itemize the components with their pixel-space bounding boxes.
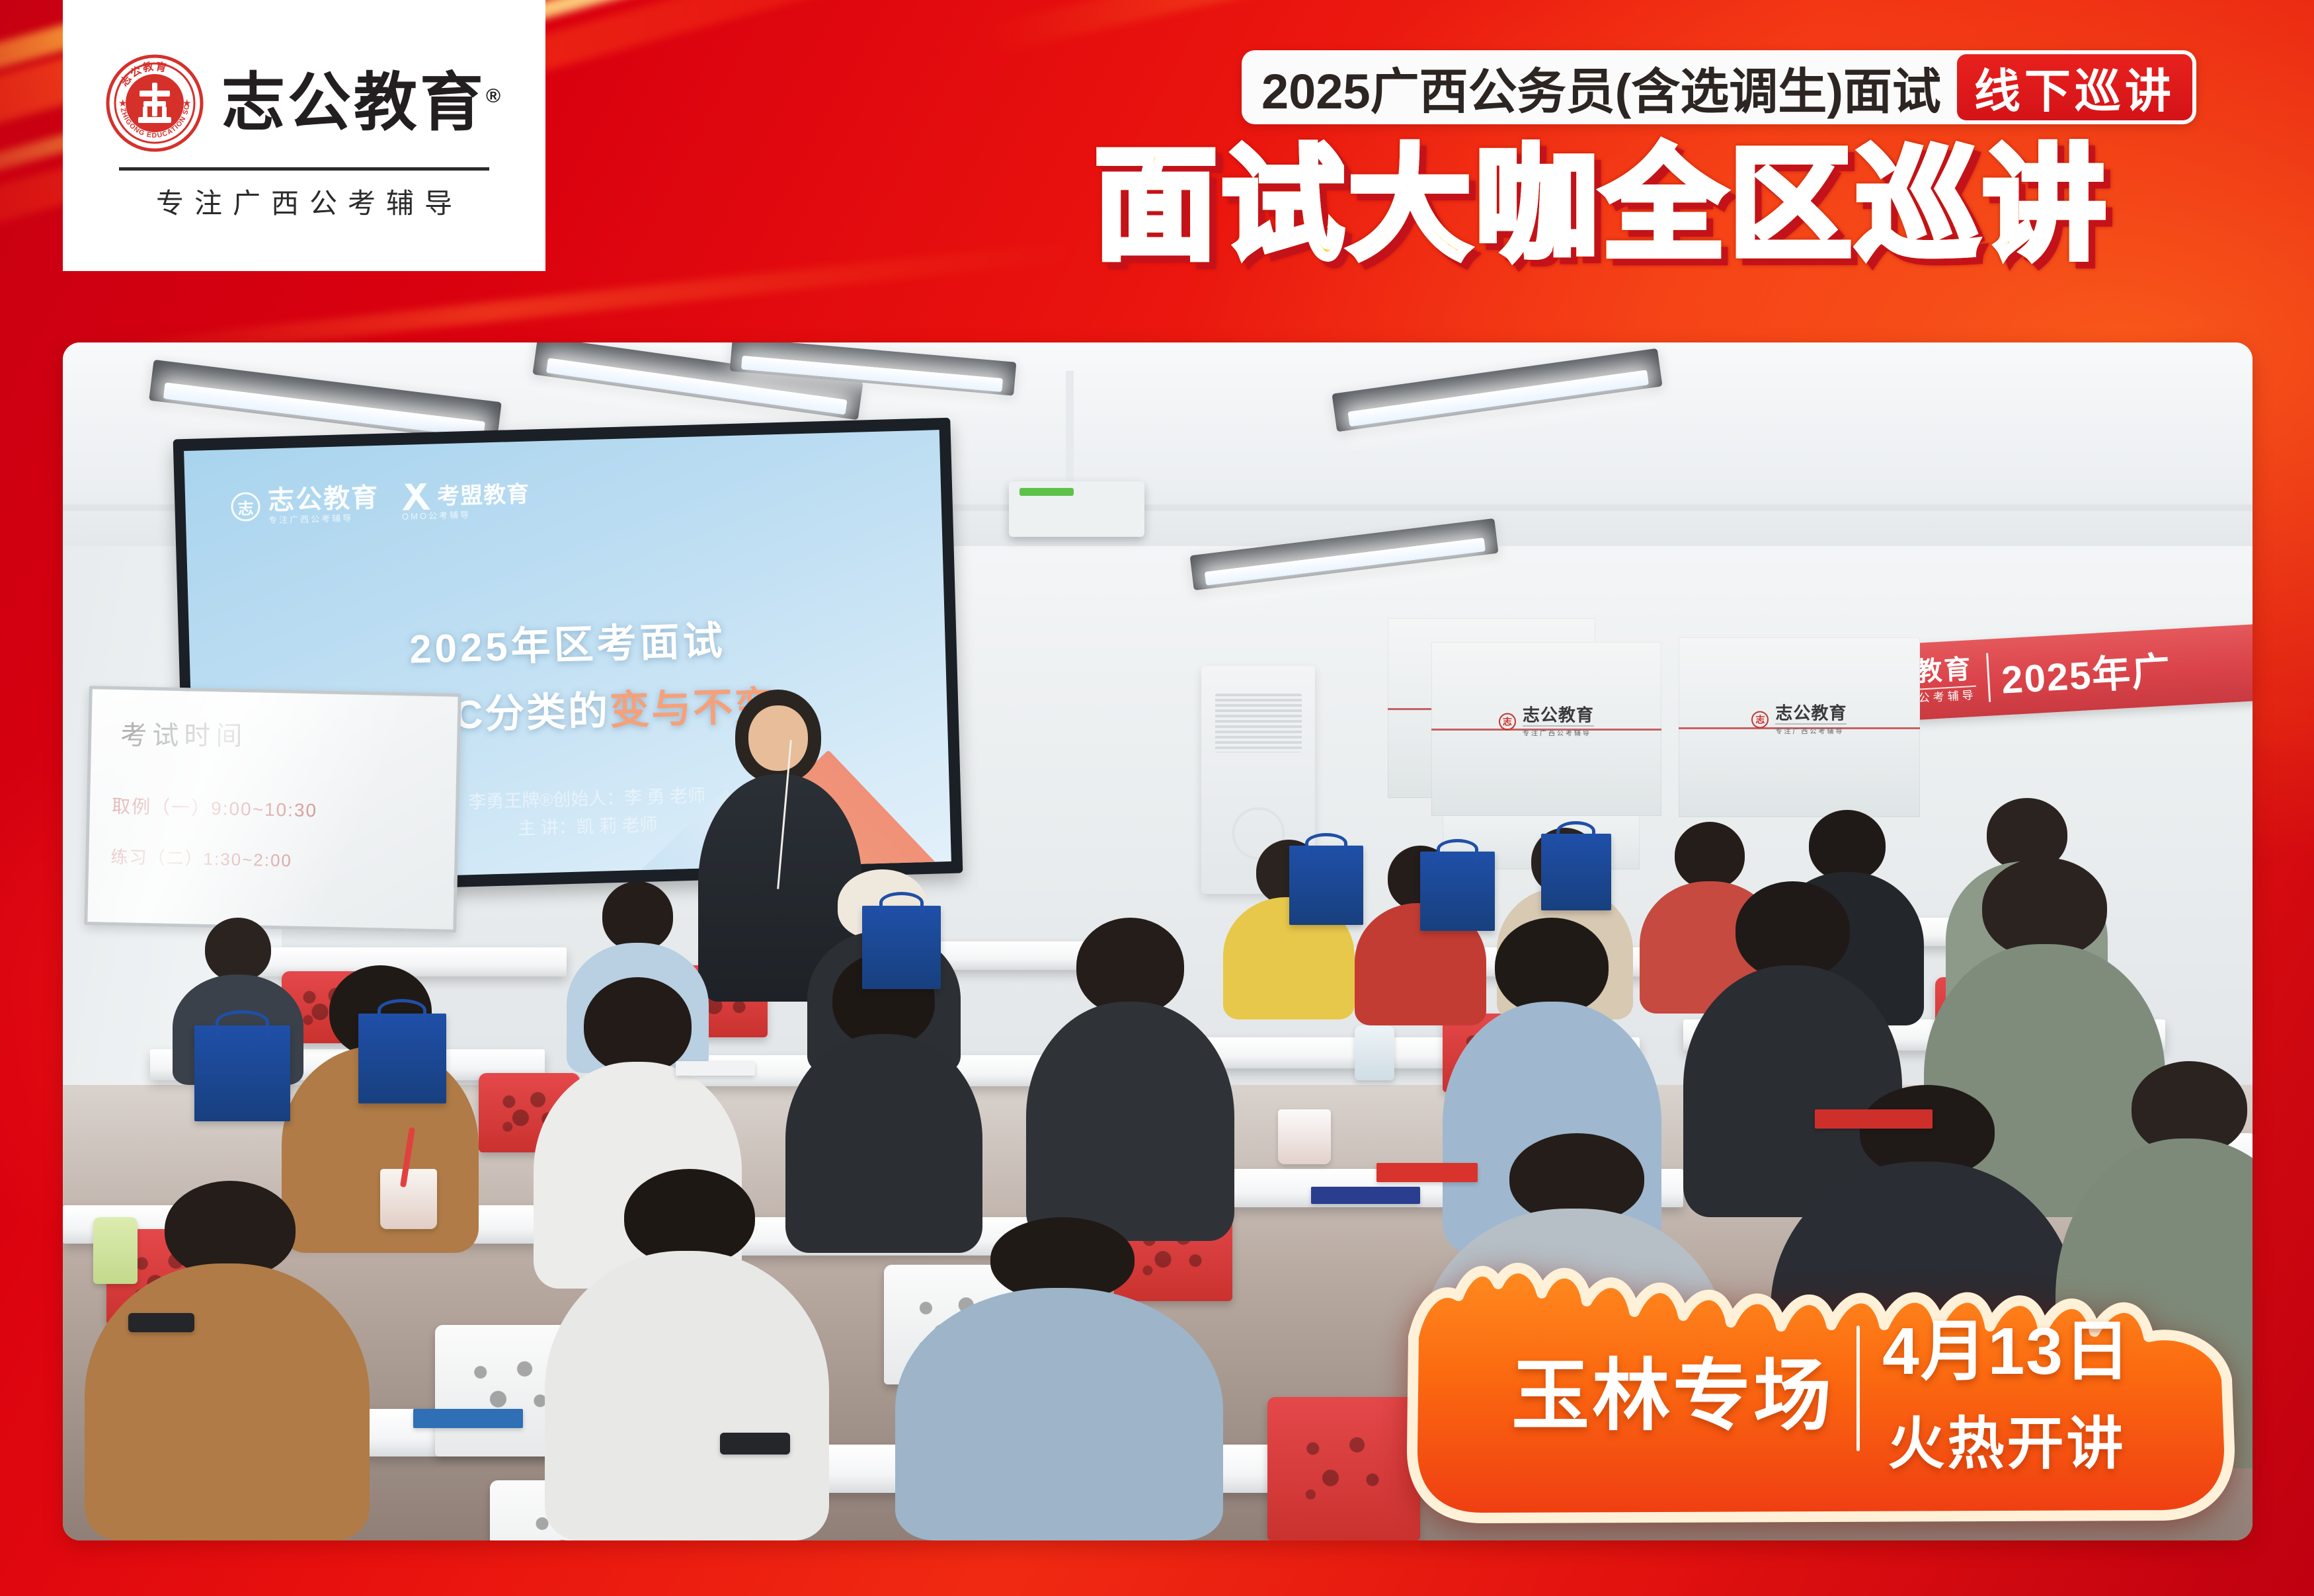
slide-brand-primary-text: 志公教育 xyxy=(267,484,379,516)
book xyxy=(1311,1187,1421,1203)
tote-bag xyxy=(358,1014,446,1103)
drink-cup xyxy=(1278,1109,1330,1164)
badge-divider xyxy=(1856,1326,1860,1451)
blind-seal-icon: 志 xyxy=(1499,713,1516,731)
slide-credits: 李勇王牌®创始人：李 勇 老师 主 讲：凯 莉 老师 xyxy=(467,783,706,845)
tote-bag xyxy=(194,1025,291,1121)
drink-cup xyxy=(380,1169,437,1229)
tote-bag xyxy=(1541,834,1611,910)
blind-seal-icon: 志 xyxy=(1751,711,1769,729)
student-body xyxy=(85,1263,370,1540)
registered-mark: ® xyxy=(486,85,503,107)
projector-mount xyxy=(1066,371,1074,485)
student-head xyxy=(205,918,270,981)
student-head xyxy=(1982,858,2107,958)
water-bottle xyxy=(93,1217,137,1284)
projector-icon xyxy=(1009,481,1144,536)
book xyxy=(1815,1109,1933,1129)
blind-brand-name: 志公教育 xyxy=(1523,706,1594,723)
slide-brand-secondary-text: 考盟教育 xyxy=(436,482,530,510)
brand-name: 志公教育® xyxy=(221,71,503,135)
tote-bag xyxy=(1289,846,1364,925)
window-blind-left: 志 志公教育 专注广西公考辅导 xyxy=(1431,642,1661,816)
blind-brand-name: 志公教育 xyxy=(1775,704,1847,721)
window-blind-right: 志 志公教育 专注广西公考辅导 xyxy=(1679,637,1919,817)
banner-year-text: 2025年广 xyxy=(2000,639,2173,704)
light-streak-icon xyxy=(978,0,2314,56)
svg-text:★: ★ xyxy=(118,98,127,109)
student-body xyxy=(895,1288,1224,1540)
notebook xyxy=(413,1409,523,1428)
phone xyxy=(128,1313,194,1332)
student xyxy=(1026,918,1234,1241)
flame-badge-content: 玉林专场 4月13日 火热开讲 xyxy=(1395,1309,2248,1468)
event-city: 玉林专场 xyxy=(1511,1332,1834,1445)
event-kicker-badge: 2025广西公务员(含选调生)面试 线下巡讲 xyxy=(1242,50,2196,124)
phone xyxy=(720,1433,790,1455)
event-flame-badge: 玉林专场 4月13日 火热开讲 xyxy=(1395,1238,2248,1523)
kicker-title: 2025广西公务员(含选调生)面试 xyxy=(1242,50,1957,124)
slide-title-line1: 2025年区考面试 xyxy=(360,608,775,676)
blind-brand-lockup: 志 志公教育 专注广西公考辅导 xyxy=(1499,706,1594,737)
student-head xyxy=(584,977,692,1074)
brand-tagline: 专注广西公考辅导 xyxy=(145,181,463,221)
student-head xyxy=(1809,810,1886,881)
ac-grill xyxy=(1215,694,1302,753)
slide-brand-seal-icon: 志 xyxy=(230,493,260,522)
student-head xyxy=(1076,918,1185,1015)
book xyxy=(1376,1163,1477,1182)
event-open-text: 火热开讲 xyxy=(1888,1397,2126,1480)
slide-brand-secondary-sub: OMO公考辅导 xyxy=(401,509,530,522)
student-head xyxy=(1495,918,1609,1015)
student-body xyxy=(545,1251,830,1540)
brand-logo-panel: 志公教育 ZHIGONG EDUCATION SCHOOL ★ ★ xyxy=(63,0,545,271)
paper xyxy=(676,1061,754,1076)
student-head xyxy=(1675,822,1745,889)
tote-bag xyxy=(1420,852,1495,931)
event-date: 4月13日 xyxy=(1882,1297,2132,1393)
brand-lockup: 志公教育 ZHIGONG EDUCATION SCHOOL ★ ★ xyxy=(105,54,503,153)
slide-logo-row: 志 志公教育 专注广西公考辅导 考盟教育 OMO公考辅导 xyxy=(230,481,530,527)
student-foreground xyxy=(545,1169,830,1540)
student-body xyxy=(1026,1002,1234,1241)
whiteboard: 考试时间 取例（一）9:00~10:30 练习（二）1:30~2:00 xyxy=(85,686,461,934)
brand-seal-icon: 志公教育 ZHIGONG EDUCATION SCHOOL ★ ★ xyxy=(105,54,204,153)
page-title: 面试大咖全区巡讲 xyxy=(1094,144,2110,267)
promo-poster: 志公教育 ZHIGONG EDUCATION SCHOOL ★ ★ xyxy=(0,0,2314,1596)
whiteboard-glare xyxy=(85,686,415,934)
student-foreground xyxy=(895,1217,1224,1540)
blind-brand-lockup: 志 志公教育 专注广西公考辅导 xyxy=(1751,704,1847,735)
kaomeng-logo-icon xyxy=(401,483,430,510)
student-head xyxy=(602,881,674,950)
slide-brand-secondary: 考盟教育 OMO公考辅导 xyxy=(401,481,530,522)
water-bottle xyxy=(1355,1025,1394,1080)
banner-divider xyxy=(1986,653,1991,702)
slide-brand-primary-sub: 专注广西公考辅导 xyxy=(268,514,379,526)
blind-brand-tagline: 专注广西公考辅导 xyxy=(1775,723,1847,735)
blind-brand-tagline: 专注广西公考辅导 xyxy=(1523,725,1594,737)
student-head xyxy=(1735,881,1849,978)
brand-name-text: 志公教育 xyxy=(221,67,486,138)
tote-bag xyxy=(862,906,941,990)
presenter-face xyxy=(748,705,808,771)
svg-text:★: ★ xyxy=(182,98,191,109)
slide-brand-primary: 志公教育 专注广西公考辅导 xyxy=(267,485,379,526)
projector-indicator xyxy=(1019,488,1074,496)
chair-holes xyxy=(1289,1423,1399,1515)
kicker-chip: 线下巡讲 xyxy=(1957,54,2192,120)
divider xyxy=(119,167,489,171)
event-date-block: 4月13日 火热开讲 xyxy=(1882,1297,2132,1480)
